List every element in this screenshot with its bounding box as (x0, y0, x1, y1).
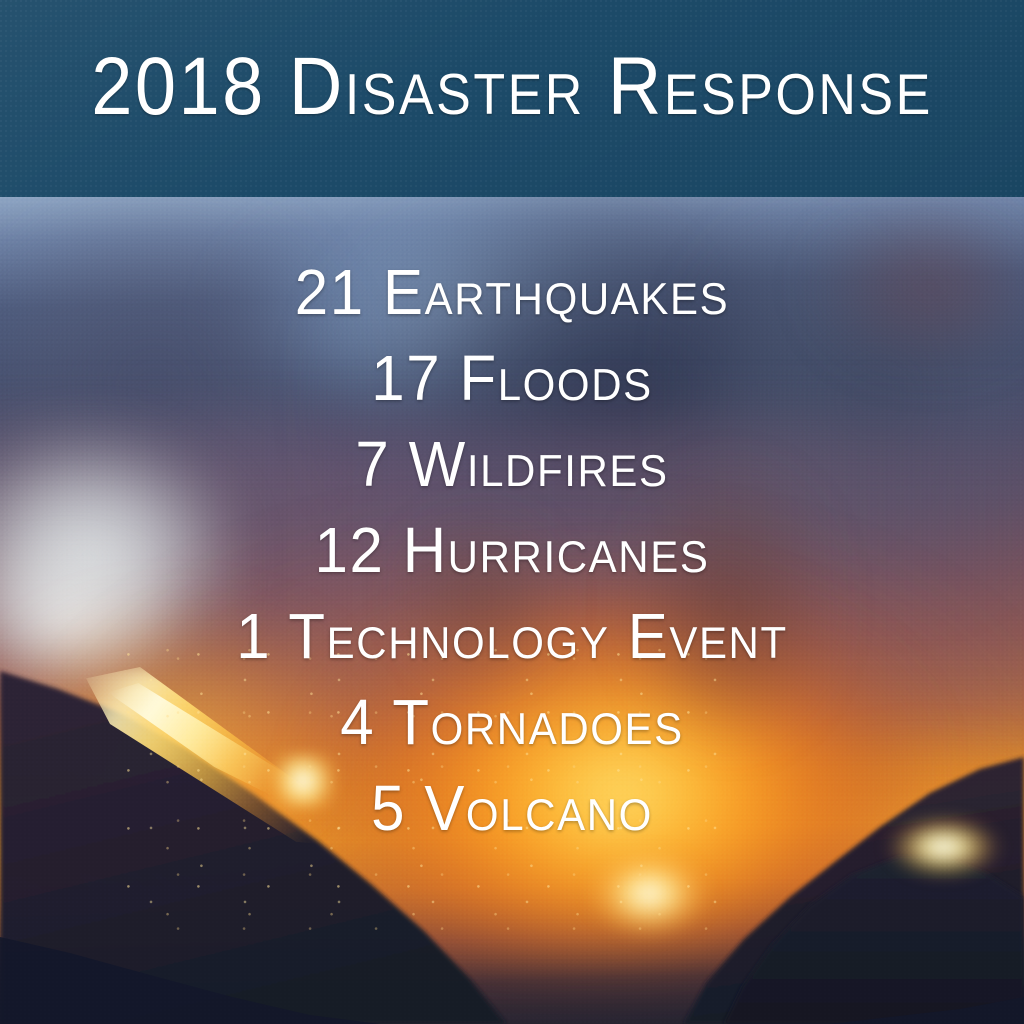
valley-fire-spot (574, 843, 724, 953)
disaster-response-poster: 2018 Disaster Response (0, 0, 1024, 1024)
list-item: 5 Volcano (0, 763, 1024, 854)
disaster-stats-list: 21 Earthquakes 17 Floods 7 Wildfires 12 … (0, 250, 1024, 852)
list-item: 1 Technology Event (0, 591, 1024, 682)
page-title: 2018 Disaster Response (0, 46, 1024, 127)
list-item: 21 Earthquakes (0, 247, 1024, 338)
header-banner: 2018 Disaster Response (0, 0, 1024, 197)
list-item: 4 Tornadoes (0, 677, 1024, 768)
list-item: 17 Floods (0, 333, 1024, 424)
list-item: 12 Hurricanes (0, 505, 1024, 596)
list-item: 7 Wildfires (0, 419, 1024, 510)
